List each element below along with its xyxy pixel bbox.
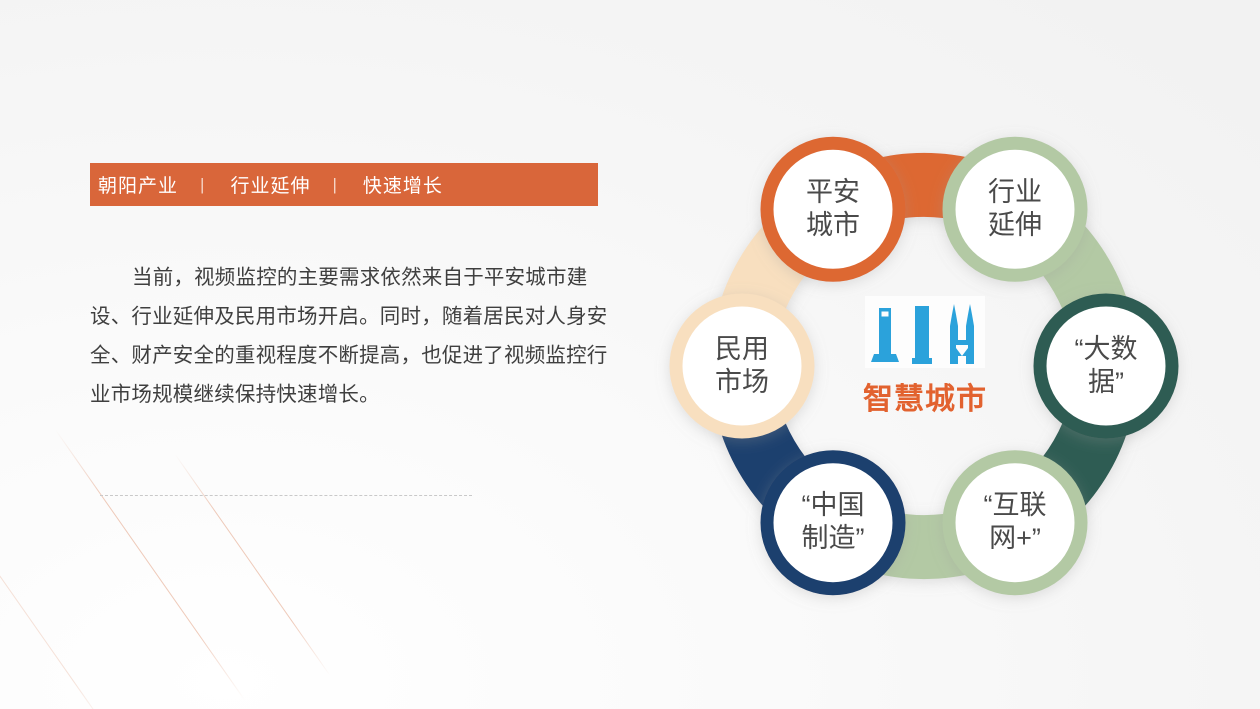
decorative-diagonal-line [0, 519, 110, 709]
dashed-divider [100, 495, 472, 496]
node-circle-min-yong-shi-chang[interactable] [676, 300, 808, 432]
city-skyline-icon [865, 296, 985, 368]
node-circle-da-shu-ju[interactable] [1040, 300, 1172, 432]
decorative-diagonal-line [175, 454, 331, 676]
node-circle-zhong-guo-zhi-zao[interactable] [767, 457, 899, 589]
center-brand-block: 智慧城市 [820, 296, 1030, 418]
banner-item-2: 行业延伸 [230, 171, 310, 198]
center-title: 智慧城市 [820, 374, 1030, 418]
banner-item-3: 快速增长 [363, 171, 443, 198]
body-paragraph: 当前，视频监控的主要需求依然来自于平安城市建设、行业延伸及民用市场开启。同时，随… [90, 258, 610, 414]
node-circle-ping-an-cheng-shi[interactable] [767, 143, 899, 275]
slide-canvas: 朝阳产业 | 行业延伸 | 快速增长 当前，视频监控的主要需求依然来自于平安城市… [0, 0, 1260, 709]
section-banner: 朝阳产业 | 行业延伸 | 快速增长 [90, 163, 598, 206]
banner-item-1: 朝阳产业 [98, 171, 178, 198]
banner-separator: | [310, 175, 362, 195]
node-circle-hu-lian-wang-jia[interactable] [949, 457, 1081, 589]
decorative-diagonal-line [55, 429, 245, 700]
banner-separator: | [178, 175, 230, 195]
node-circle-hang-ye-yan-shen[interactable] [949, 143, 1081, 275]
